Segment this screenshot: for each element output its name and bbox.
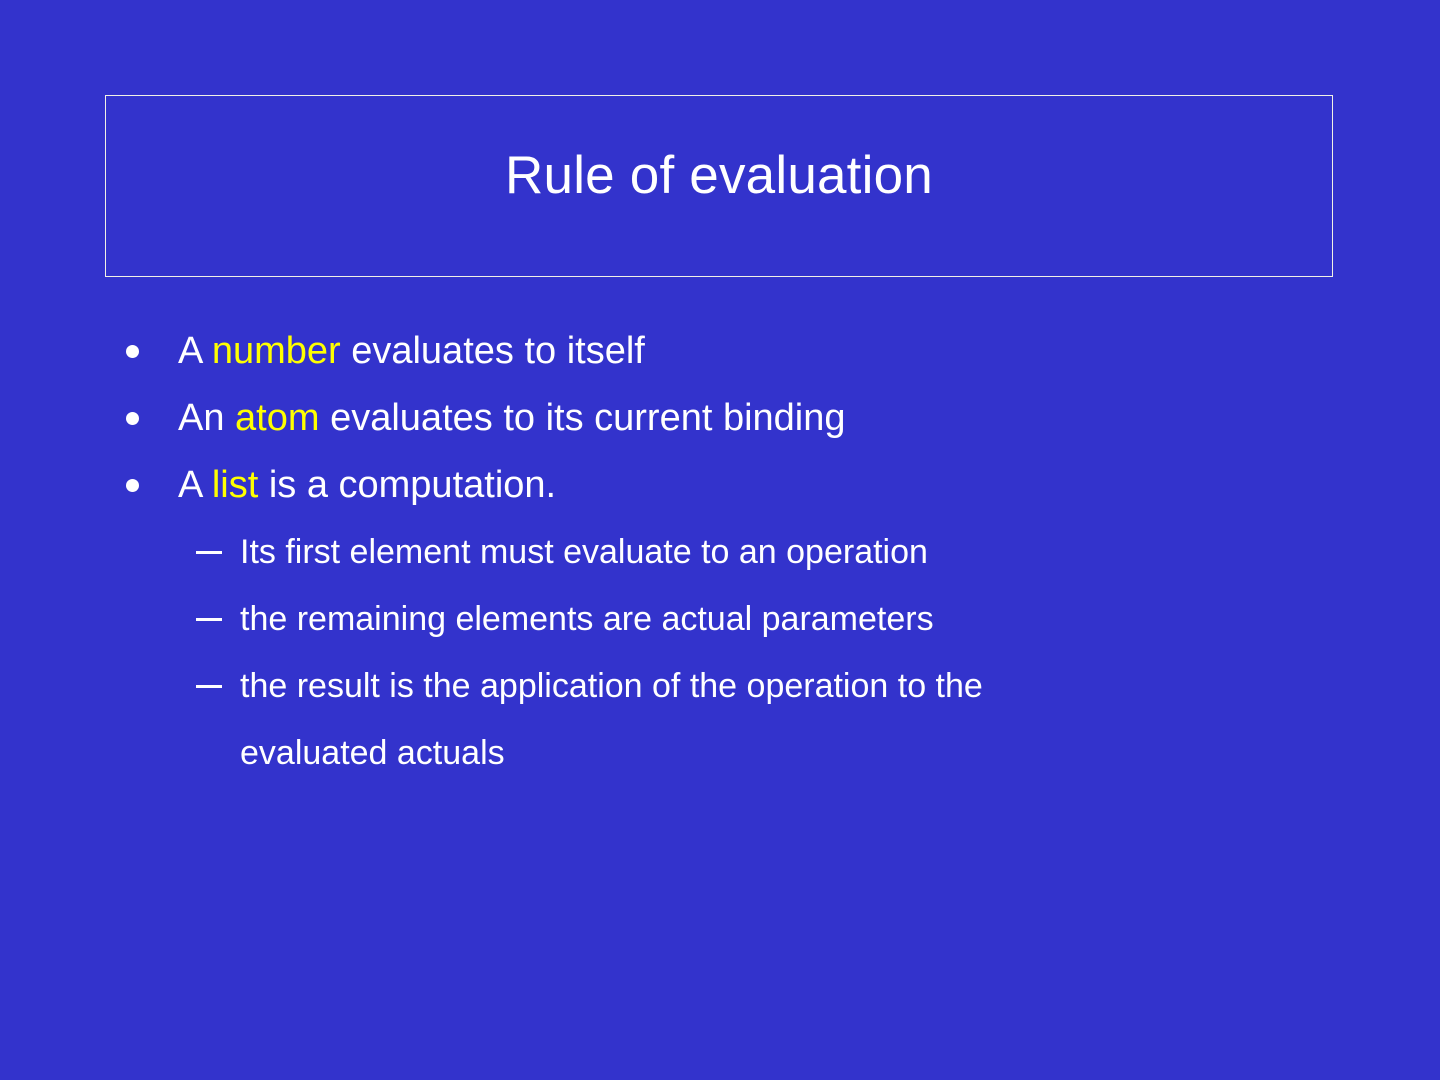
- list-item: An atom evaluates to its current binding: [0, 385, 1440, 452]
- sub-bullet-text-line2: evaluated actuals: [240, 720, 1290, 787]
- bullet-text-post: evaluates to its current binding: [320, 397, 846, 439]
- bullet-list-level2: Its first element must evaluate to an op…: [0, 519, 1440, 787]
- bullet-keyword: list: [212, 464, 258, 506]
- slide-body: A number evaluates to itself An atom eva…: [0, 318, 1440, 787]
- slide: Rule of evaluation A number evaluates to…: [0, 0, 1440, 1080]
- sub-bullet-text-line1: the result is the application of the ope…: [240, 667, 983, 705]
- list-item: the result is the application of the ope…: [0, 653, 1440, 787]
- list-item: A list is a computation.: [0, 452, 1440, 519]
- list-item: Its first element must evaluate to an op…: [0, 519, 1440, 586]
- sub-bullet-text: Its first element must evaluate to an op…: [240, 533, 928, 571]
- title-frame: Rule of evaluation: [105, 95, 1333, 277]
- bullet-list-level1: A number evaluates to itself An atom eva…: [0, 318, 1440, 519]
- page-title: Rule of evaluation: [106, 146, 1332, 205]
- bullet-text-pre: A: [178, 330, 212, 372]
- list-item: A number evaluates to itself: [0, 318, 1440, 385]
- bullet-keyword: number: [212, 330, 341, 372]
- bullet-text-post: evaluates to itself: [341, 330, 645, 372]
- bullet-text-pre: An: [178, 397, 235, 439]
- bullet-dot-icon: [126, 318, 142, 385]
- bullet-text-pre: A: [178, 464, 212, 506]
- list-item: the remaining elements are actual parame…: [0, 586, 1440, 653]
- bullet-dash-icon: [196, 519, 222, 586]
- sub-bullet-text: the remaining elements are actual parame…: [240, 600, 934, 638]
- bullet-dot-icon: [126, 385, 142, 452]
- bullet-dash-icon: [196, 653, 222, 720]
- bullet-dash-icon: [196, 586, 222, 653]
- bullet-text-post: is a computation.: [258, 464, 556, 506]
- bullet-dot-icon: [126, 452, 142, 519]
- bullet-keyword: atom: [235, 397, 319, 439]
